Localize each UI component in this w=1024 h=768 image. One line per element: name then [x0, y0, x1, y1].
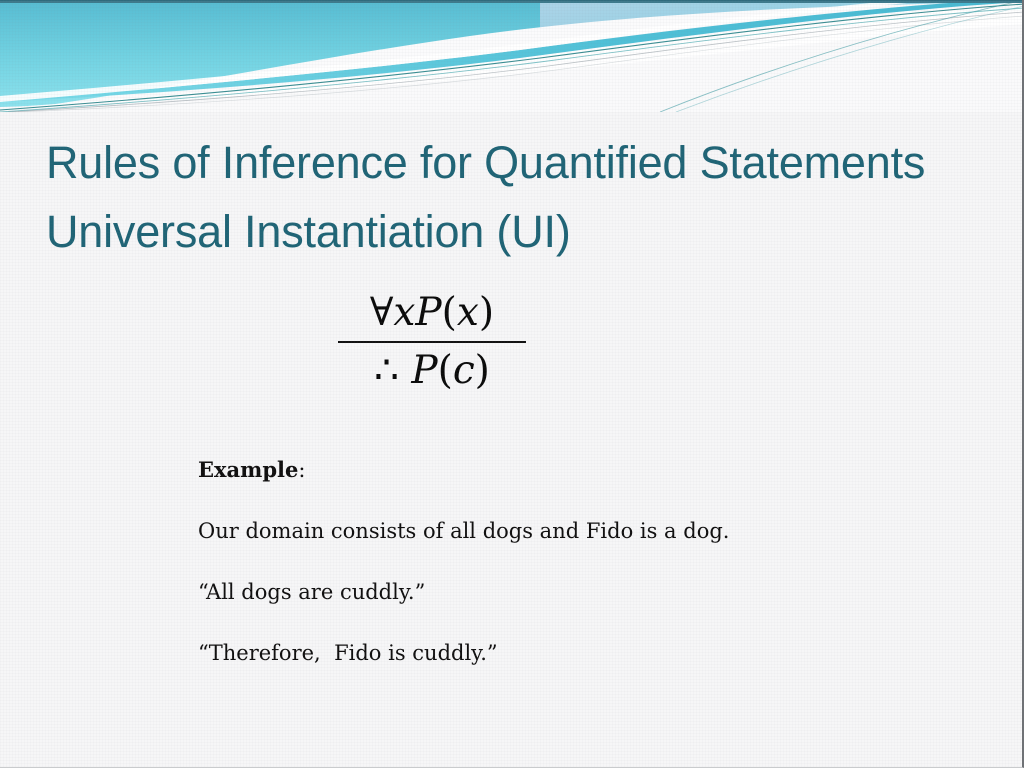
numerator-predicate: P	[415, 290, 441, 335]
example-label: Example	[198, 457, 298, 482]
numerator-variable: x	[393, 290, 415, 335]
wave-banner-graphic	[0, 0, 1024, 112]
slide-title: Rules of Inference for Quantified Statem…	[46, 128, 976, 266]
universal-quantifier-symbol: ∀	[370, 290, 394, 335]
example-line-domain: Our domain consists of all dogs and Fido…	[198, 517, 938, 545]
denominator-close-paren: )	[475, 348, 490, 393]
formula-denominator: ∴ P(c)	[338, 345, 526, 396]
inference-rule-formula: ∀xP(x) ∴ P(c)	[338, 288, 526, 396]
numerator-close-paren: )	[479, 290, 494, 335]
example-heading: Example:	[198, 456, 938, 484]
example-line-premise: “All dogs are cuddly.”	[198, 578, 938, 606]
numerator-argument: x	[457, 290, 479, 335]
example-line-conclusion: “Therefore, Fido is cuddly.”	[198, 639, 938, 667]
therefore-symbol: ∴	[374, 348, 399, 393]
example-block: Example: Our domain consists of all dogs…	[198, 456, 938, 667]
denominator-argument: c	[453, 348, 475, 393]
presentation-slide: Rules of Inference for Quantified Statem…	[0, 0, 1024, 768]
denominator-predicate: P	[411, 348, 437, 393]
example-label-colon: :	[298, 458, 305, 482]
denominator-open-paren: (	[438, 348, 453, 393]
formula-divider-line	[338, 341, 526, 343]
formula-numerator: ∀xP(x)	[338, 288, 526, 340]
numerator-open-paren: (	[442, 290, 457, 335]
